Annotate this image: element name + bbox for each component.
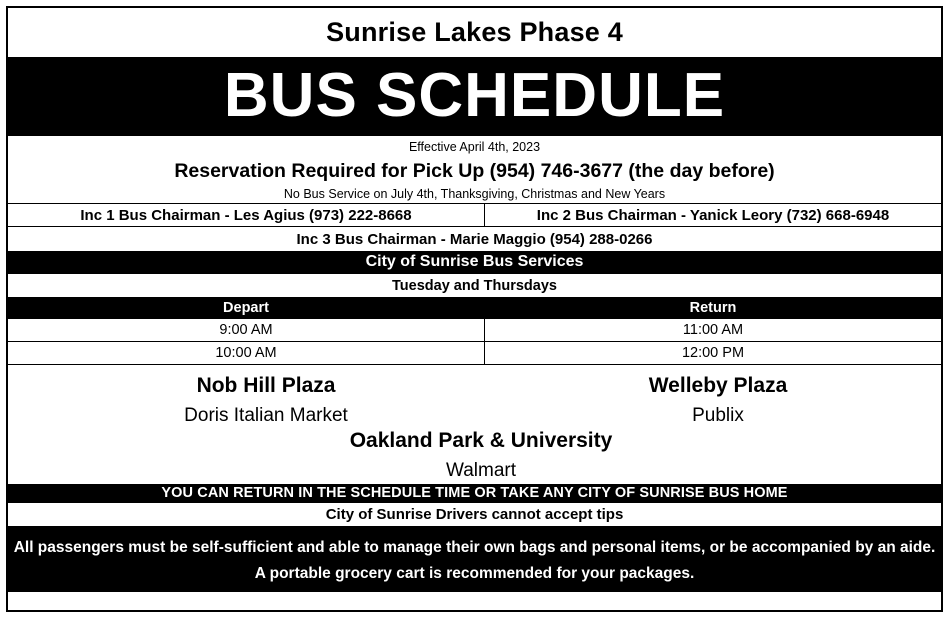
destination-name: Oakland Park & University (281, 426, 681, 456)
effective-date: Effective April 4th, 2023 (8, 136, 941, 157)
return-time-2: 12:00 PM (484, 342, 941, 364)
bus-schedule-flyer: Sunrise Lakes Phase 4 BUS SCHEDULE Effec… (6, 6, 943, 612)
service-days: Tuesday and Thursdays (8, 274, 941, 297)
destination-oakland-park-university: Oakland Park & University Walmart (281, 426, 681, 486)
passenger-policy-line-1: All passengers must be self-sufficient a… (8, 535, 941, 561)
destination-name: Welleby Plaza (588, 371, 848, 401)
chairmen-row: Inc 1 Bus Chairman - Les Agius (973) 222… (8, 204, 941, 227)
chairman-inc3: Inc 3 Bus Chairman - Marie Maggio (954) … (8, 227, 941, 250)
depart-time-1: 9:00 AM (8, 319, 484, 341)
schedule-header-row: Depart Return (8, 297, 941, 318)
destination-nob-hill-plaza: Nob Hill Plaza Doris Italian Market (126, 371, 406, 431)
depart-time-2: 10:00 AM (8, 342, 484, 364)
passenger-policy-line-2: A portable grocery cart is recommended f… (8, 561, 941, 587)
table-row: 10:00 AM 12:00 PM (8, 342, 941, 365)
reservation-notice: Reservation Required for Pick Up (954) 7… (8, 157, 941, 184)
footer-white-strip (8, 591, 941, 610)
hero-title: BUS SCHEDULE (8, 57, 941, 137)
return-policy-banner: YOU CAN RETURN IN THE SCHEDULE TIME OR T… (8, 484, 941, 503)
tips-policy-note: City of Sunrise Drivers cannot accept ti… (8, 503, 941, 526)
chairman-inc2: Inc 2 Bus Chairman - Yanick Leory (732) … (484, 204, 941, 226)
chairman-inc1: Inc 1 Bus Chairman - Les Agius (973) 222… (8, 204, 484, 226)
passenger-policy-block: All passengers must be self-sufficient a… (8, 526, 941, 590)
destination-name: Nob Hill Plaza (126, 371, 406, 401)
community-title: Sunrise Lakes Phase 4 (8, 8, 941, 57)
destination-welleby-plaza: Welleby Plaza Publix (588, 371, 848, 431)
column-header-depart: Depart (8, 297, 484, 318)
no-service-notice: No Bus Service on July 4th, Thanksgiving… (8, 185, 941, 204)
service-provider: City of Sunrise Bus Services (8, 251, 941, 274)
destinations-block: Nob Hill Plaza Doris Italian Market Well… (8, 365, 941, 483)
destination-store: Walmart (281, 456, 681, 486)
table-row: 9:00 AM 11:00 AM (8, 319, 941, 342)
return-time-1: 11:00 AM (484, 319, 941, 341)
column-header-return: Return (484, 297, 941, 318)
